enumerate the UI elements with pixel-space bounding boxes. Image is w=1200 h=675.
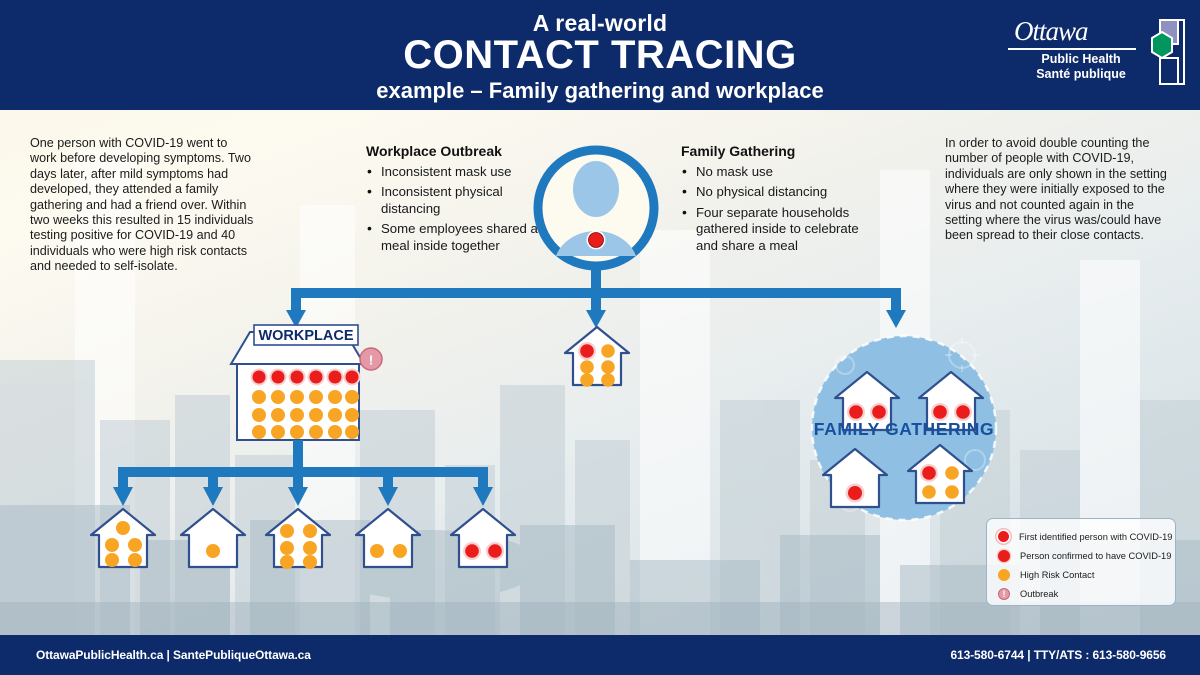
contact-house-3: [266, 509, 330, 569]
high-risk-dot-icon: [998, 569, 1010, 581]
infographic-page: A real-world CONTACT TRACING example – F…: [0, 0, 1200, 675]
legend-label: First identified person with COVID-19: [1019, 532, 1172, 542]
contact-house-4: [356, 509, 420, 567]
contact-house-5: [451, 509, 515, 567]
legend-label: High Risk Contact: [1020, 570, 1094, 580]
friend-house: [565, 327, 629, 387]
legend-item-confirmed: Person confirmed to have COVID-19: [996, 546, 1166, 565]
legend-box: First identified person with COVID-19 Pe…: [986, 518, 1176, 606]
connector-top-branch: [286, 263, 906, 328]
legend-label: Outbreak: [1020, 589, 1058, 599]
outbreak-badge: !: [360, 348, 382, 370]
workplace-label: WORKPLACE: [258, 328, 353, 344]
svg-text:!: !: [369, 353, 373, 368]
legend-item-high-risk: High Risk Contact: [996, 565, 1166, 584]
contact-house-2: [181, 509, 245, 567]
family-gathering-label: FAMILY GATHERING: [814, 419, 994, 439]
outbreak-dot-icon: [998, 588, 1010, 600]
connector-workplace-branch: [113, 440, 493, 506]
footer-phone-numbers: 613-580-6744 | TTY/ATS : 613-580-9656: [950, 648, 1166, 662]
family-gathering-group: FAMILY GATHERING: [812, 336, 996, 520]
index-case-avatar: [538, 150, 654, 266]
page-footer: OttawaPublicHealth.ca | SantePubliqueOtt…: [0, 635, 1200, 675]
contact-house-1: [91, 509, 155, 567]
footer-websites[interactable]: OttawaPublicHealth.ca | SantePubliqueOtt…: [36, 648, 311, 662]
first-identified-dot-icon: [998, 531, 1009, 542]
workplace-building: WORKPLACE !: [231, 325, 382, 440]
legend-item-first-identified: First identified person with COVID-19: [996, 527, 1166, 546]
confirmed-dot-icon: [998, 550, 1010, 562]
legend-label: Person confirmed to have COVID-19: [1020, 551, 1171, 561]
legend-item-outbreak: Outbreak: [996, 584, 1166, 603]
